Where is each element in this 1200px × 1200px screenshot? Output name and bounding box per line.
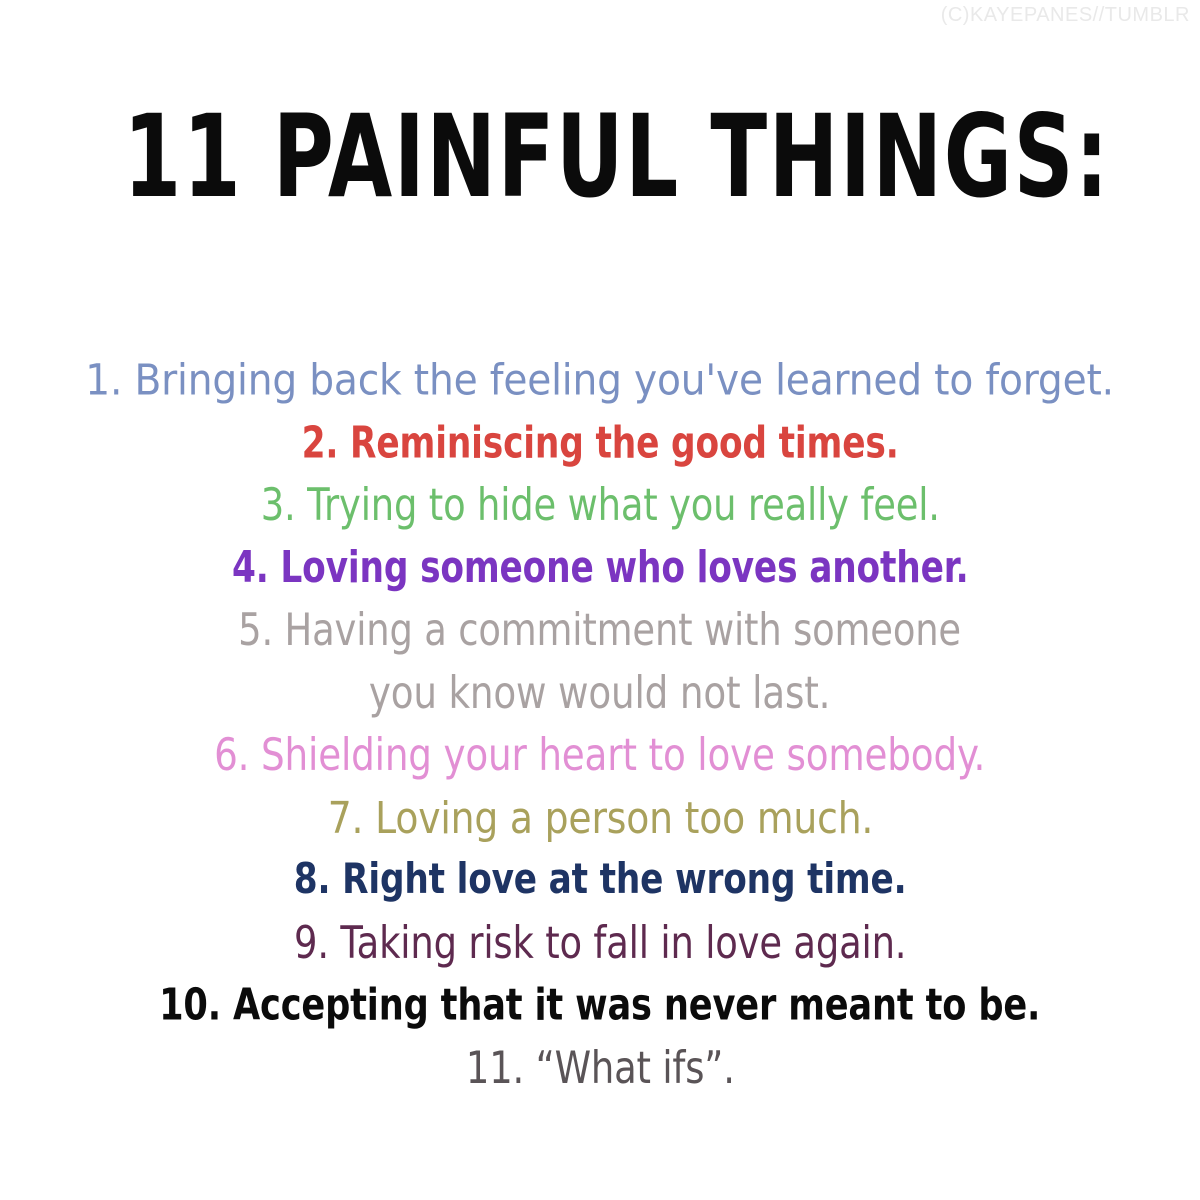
list-item-text: 7. Loving a person too much. [327,785,873,851]
list-item: 6. Shielding your heart to love somebody… [0,724,1200,787]
list-item-text: 3. Trying to hide what you really feel. [260,471,939,539]
list-item-text: 11. “What ifs”. [466,1034,735,1102]
list-item: 11. “What ifs”. [0,1037,1200,1100]
list-item: 8. Right love at the wrong time. [0,849,1200,912]
list-item-text: 9. Taking risk to fall in love again. [294,909,906,977]
list-item-text: 2. Reminiscing the good times. [301,408,898,477]
list-item: 7. Loving a person too much. [0,787,1200,850]
list-item: 4. Loving someone who loves another. [0,537,1200,600]
page-title: 11 PAINFUL THINGS: [123,98,1110,215]
list-item-text: 5. Having a commitment with someone [239,596,962,664]
list-item-text: 8. Right love at the wrong time. [294,847,907,915]
list-item: 5. Having a commitment with someone [0,599,1200,662]
painful-things-list: 1. Bringing back the feeling you've lear… [0,349,1200,1099]
list-item-text: 10. Accepting that it was never meant to… [159,971,1040,1040]
watermark-credit: (C)KAYEPANES//TUMBLR [941,4,1190,27]
list-item-continuation: you know would not last. [0,662,1200,725]
list-item-text: 6. Shielding your heart to love somebody… [214,721,985,789]
list-item-text: 4. Loving someone who loves another. [232,534,969,602]
list-item-text: you know would not last. [369,659,831,727]
list-item: 9. Taking risk to fall in love again. [0,912,1200,975]
poster-canvas: (C)KAYEPANES//TUMBLR 11 PAINFUL THINGS: … [0,0,1200,1200]
page-title-container: 11 PAINFUL THINGS: [0,98,1200,204]
list-item: 10. Accepting that it was never meant to… [0,974,1200,1037]
list-item-text: 1. Bringing back the feeling you've lear… [86,348,1115,413]
list-item: 3. Trying to hide what you really feel. [0,474,1200,537]
list-item: 2. Reminiscing the good times. [0,412,1200,475]
list-item: 1. Bringing back the feeling you've lear… [0,349,1200,412]
